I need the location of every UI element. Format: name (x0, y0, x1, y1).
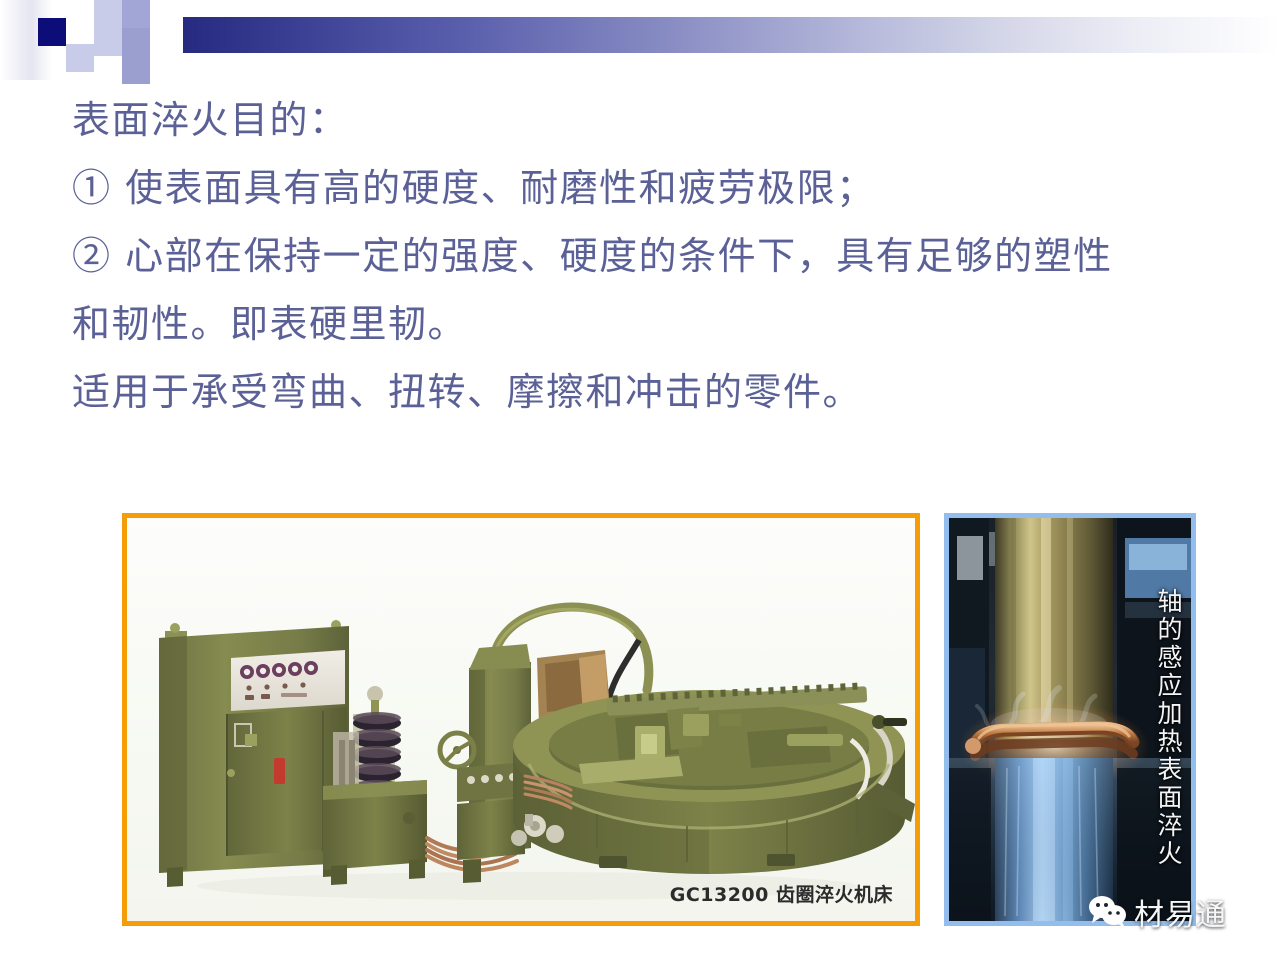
header-square-light-1 (94, 0, 122, 28)
wechat-watermark: 材易通 (1088, 890, 1227, 934)
machine-photo-caption: GC13200 齿圈淬火机床 (670, 880, 893, 907)
text-line-item-2: ② 心部在保持一定的强度、硬度的条件下，具有足够的塑性 (72, 222, 1232, 290)
header-square-mid-1 (122, 0, 150, 28)
header-square-mid-2 (122, 28, 150, 56)
header-square-navy (38, 18, 66, 46)
header-square-white-1 (66, 0, 94, 17)
text-line-title: 表面淬火目的： (72, 86, 1232, 154)
text-line-summary: 适用于承受弯曲、扭转、摩擦和冲击的零件。 (72, 358, 1232, 426)
header-gradient-bar (183, 17, 1280, 53)
header-square-light-2 (94, 28, 122, 56)
header-square-pale-1 (66, 44, 94, 72)
text-line-item-1: ① 使表面具有高的硬度、耐磨性和疲劳极限； (72, 154, 1232, 222)
header-square-mid-3 (122, 56, 150, 84)
induction-photo-caption: 轴的感应加热表面淬火 (1149, 588, 1183, 868)
slide-body-text: 表面淬火目的： ① 使表面具有高的硬度、耐磨性和疲劳极限； ② 心部在保持一定的… (72, 86, 1232, 426)
control-cabinet (159, 620, 349, 887)
induction-heating-photo: 轴的感应加热表面淬火 (944, 513, 1196, 926)
machine-illustration (127, 518, 915, 921)
rotary-table (513, 683, 915, 874)
header-decoration (0, 0, 1280, 80)
text-line-item-2-cont: 和韧性。即表硬里韧。 (72, 290, 1232, 358)
wechat-icon (1088, 895, 1128, 929)
quenching-machine-photo: GC13200 齿圈淬火机床 (122, 513, 920, 926)
header-square-white-gap2 (94, 56, 122, 84)
watermark-text: 材易通 (1134, 890, 1227, 934)
header-square-white-gap (66, 17, 94, 44)
